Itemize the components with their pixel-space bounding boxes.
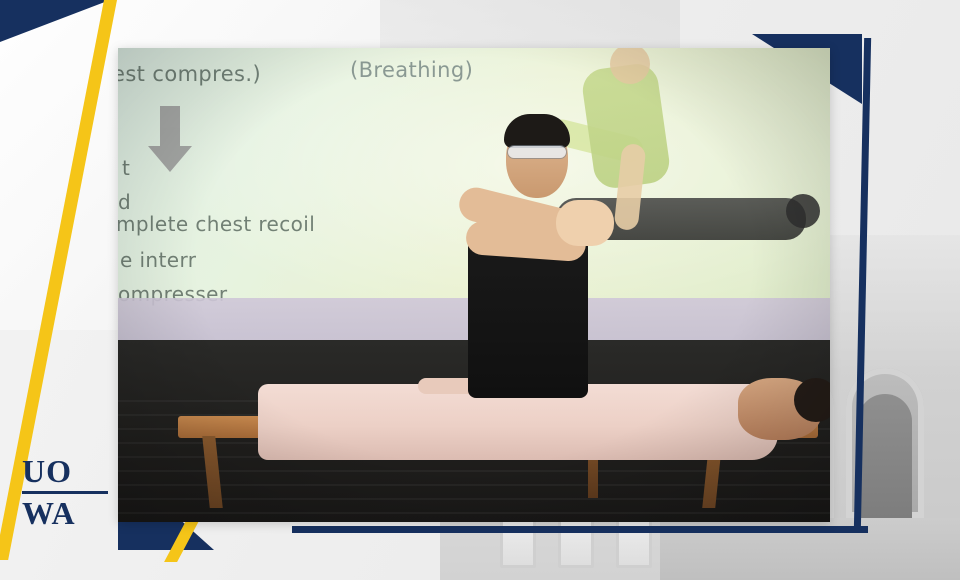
slide-bullet: e interr — [120, 248, 196, 272]
arch-opening — [858, 394, 912, 518]
slide-bullet: mplete chest recoil — [118, 212, 315, 236]
slide-bullet: d — [118, 190, 131, 214]
slide-bullet: t — [122, 156, 130, 180]
instructor-hair — [504, 114, 570, 148]
slide-title-left: est compres.) — [118, 62, 261, 86]
glasses-icon — [508, 146, 566, 158]
practice-patient-hair — [794, 378, 830, 422]
poster-canvas: est compres.) (Breathing) t d mplete che… — [0, 0, 960, 580]
navy-bottom-edge — [292, 526, 868, 533]
down-arrow-icon — [160, 106, 180, 146]
instructor-hands — [556, 200, 614, 246]
photo-content: est compres.) (Breathing) t d mplete che… — [118, 48, 830, 522]
photo-frame: est compres.) (Breathing) t d mplete che… — [118, 48, 830, 522]
slide-illustration-victim-head — [786, 194, 820, 228]
uowa-logo: UO WA — [22, 457, 108, 528]
logo-line-2: WA — [22, 499, 108, 528]
logo-rule — [22, 491, 108, 494]
logo-line-1: UO — [22, 457, 108, 486]
navy-triangle-top-left — [0, 0, 110, 42]
slide-title-right: (Breathing) — [350, 58, 473, 82]
